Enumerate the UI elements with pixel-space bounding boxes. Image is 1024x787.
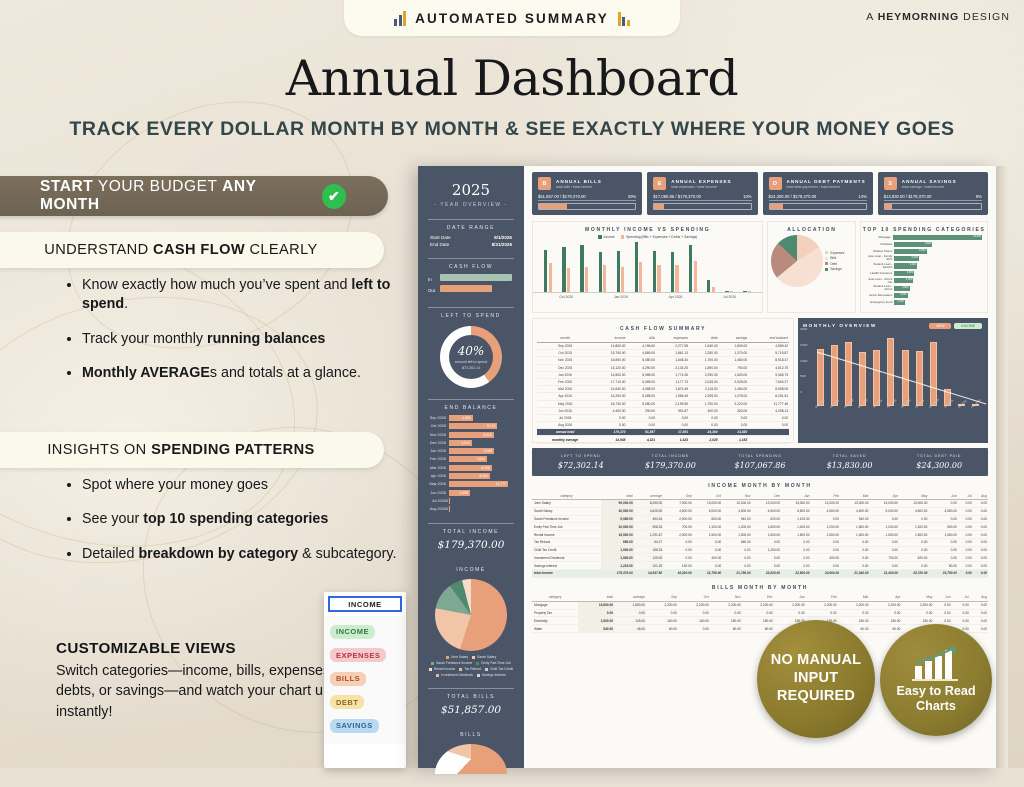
kpi-cards: BANNUAL BILLStotal bills / total income$… bbox=[532, 172, 988, 215]
table-cell: 1,890.00 bbox=[689, 364, 719, 371]
table-cell: 2,200.00 bbox=[806, 601, 838, 609]
table-cell: 2,200.00 bbox=[838, 601, 870, 609]
kpi-progress-bar bbox=[538, 203, 636, 210]
table-cell: 0.00 bbox=[973, 538, 988, 546]
table-cell: 400.00 bbox=[811, 554, 840, 562]
table-cell: 650.00 bbox=[722, 538, 751, 546]
table-cell: 2,200.00 bbox=[774, 601, 806, 609]
table-cell: 21,340.00 bbox=[840, 570, 869, 578]
kpi-title: ANNUAL SAVINGS bbox=[902, 179, 957, 184]
table-cell: 4,500.00 bbox=[899, 507, 928, 515]
table-row: May 202616,730.005,080.002,199.551,700.0… bbox=[537, 400, 789, 407]
table-cell: 1,500.00 bbox=[601, 554, 634, 562]
growth-chart-icon bbox=[910, 646, 962, 682]
legend-item: Investment Dividends bbox=[436, 673, 473, 677]
end-balance-header: END BALANCE bbox=[428, 399, 514, 411]
table-cell: 0.00 bbox=[952, 601, 970, 609]
table-cell: 2,250.00 bbox=[689, 350, 719, 357]
table-cell: Feb 2026 bbox=[537, 378, 593, 385]
customizable-body: Switch categories—income, bills, expense… bbox=[56, 661, 366, 722]
table-cell: 0.00 bbox=[678, 609, 710, 617]
dropdown-option[interactable]: INCOME bbox=[330, 625, 375, 639]
table-cell: monthly average bbox=[537, 436, 593, 443]
customizable-views-block: CUSTOMIZABLE VIEWS Switch categories—inc… bbox=[56, 640, 366, 722]
table-cell: 7,604.27 bbox=[748, 378, 789, 385]
table-cell: 7,000.00 bbox=[663, 500, 692, 508]
table-cell: 0.00 bbox=[899, 562, 928, 570]
bar-group bbox=[653, 251, 661, 292]
table-cell: 0.00 bbox=[811, 515, 840, 523]
table-row-total: total income179,370.0014,947.5016,300.00… bbox=[532, 570, 988, 578]
ribbon-cash-flow: UNDERSTAND CASH FLOW CLEARLY bbox=[0, 232, 384, 268]
table-cell: 1,861.13 bbox=[656, 350, 689, 357]
legend-item: Expenses bbox=[825, 251, 844, 255]
allocation-panel: ALLOCATION ExpensesBillsDebtSavings bbox=[767, 221, 856, 313]
table-cell: 60.00 bbox=[742, 625, 774, 633]
table-cell: 0.00 bbox=[899, 515, 928, 523]
badge-easy-label: Easy to Read Charts bbox=[880, 684, 992, 714]
table-cell: 15,500.00 bbox=[601, 531, 634, 539]
table-cell: 1,075.00 bbox=[719, 393, 749, 400]
kpi-subtitle: total bills / total income bbox=[556, 185, 602, 189]
table-cell: 290.00 bbox=[627, 407, 657, 414]
x-tick: Oct 2025 bbox=[559, 295, 573, 299]
monthly-overview-controls[interactable]: VIEW INCOME bbox=[929, 323, 982, 329]
table-cell: 0.00 bbox=[870, 609, 902, 617]
bar-group bbox=[599, 252, 607, 292]
table-cell: 150.00 bbox=[742, 617, 774, 625]
table-row: Oct 202515,790.004,865.001,861.132,250.0… bbox=[537, 350, 789, 357]
kpi-value: $17,080.86 / $179,370.0010% bbox=[653, 194, 751, 201]
allocation-legend: ExpensesBillsDebtSavings bbox=[825, 251, 844, 272]
table-cell: 0.00 bbox=[593, 414, 626, 421]
table-cell: 0.00 bbox=[958, 554, 973, 562]
top-spending-row: Childcare9,600 bbox=[861, 242, 987, 247]
table-cell: 1,800.00 bbox=[840, 523, 869, 531]
stat-item: TOTAL SAVED$13,830.00 bbox=[805, 454, 895, 470]
income-vs-spending-legend: Income Spending (Bills + Expenses + Debt… bbox=[533, 235, 762, 239]
table-cell: 1,650.00 bbox=[614, 601, 646, 609]
column-header: month bbox=[537, 334, 593, 343]
table-cell: 1,215.00 bbox=[601, 562, 634, 570]
table-row: Mar 202614,640.004,085.001,874.452,115.0… bbox=[537, 386, 789, 393]
column-header: Feb bbox=[811, 492, 840, 500]
table-cell: 1,200.00 bbox=[752, 546, 781, 554]
table-cell: 1,400.00 bbox=[781, 523, 810, 531]
page-title: Annual Dashboard bbox=[0, 50, 1024, 107]
table-cell: 2,200.00 bbox=[710, 601, 742, 609]
table-cell: 600.00 bbox=[693, 515, 722, 523]
table-cell: 0.00 bbox=[928, 500, 957, 508]
table-cell: 0.00 bbox=[722, 554, 751, 562]
table-cell: 1,500.00 bbox=[811, 531, 840, 539]
table-cell: 4,155.60 bbox=[627, 343, 657, 350]
table-cell: 0.00 bbox=[958, 562, 973, 570]
year-overview-label: - YEAR OVERVIEW - bbox=[418, 202, 524, 208]
table-cell: 150.00 bbox=[678, 617, 710, 625]
table-cell: 940.00 bbox=[722, 515, 751, 523]
column-header: average bbox=[634, 492, 663, 500]
dropdown-option[interactable]: EXPENSES bbox=[330, 648, 386, 662]
column-header: end balance bbox=[748, 334, 789, 343]
table-cell: 0.00 bbox=[752, 554, 781, 562]
column-header: Jul bbox=[958, 492, 973, 500]
table-cell: 22,500.00 bbox=[781, 570, 810, 578]
brand-credit: A HEYMORNING DESIGN bbox=[866, 11, 1010, 23]
table-cell: 9,065.73 bbox=[748, 371, 789, 378]
table-cell: 1,500.00 bbox=[693, 531, 722, 539]
column-header: Sep bbox=[663, 492, 692, 500]
table-cell: 22,620.00 bbox=[752, 570, 781, 578]
table-cell: 1,200.00 bbox=[899, 523, 928, 531]
dropdown-option[interactable]: BILLS bbox=[330, 672, 366, 686]
income-pie-header: INCOME bbox=[428, 562, 514, 573]
table-cell: 125.00 bbox=[614, 617, 646, 625]
table-cell: 4,559.42 bbox=[748, 343, 789, 350]
table-cell: John Salary bbox=[532, 500, 601, 508]
table-cell: 991.87 bbox=[656, 407, 689, 414]
table-cell: 3,625.00 bbox=[634, 507, 663, 515]
table-cell: Jun 2026 bbox=[537, 407, 593, 414]
table-cell: Sarah Salary bbox=[532, 507, 601, 515]
table-cell: 45.00 bbox=[614, 625, 646, 633]
income-selector[interactable]: INCOME bbox=[954, 323, 982, 329]
table-row: Property Tax0.000.000.000.000.000.000.00… bbox=[532, 609, 988, 617]
table-cell: 60.00 bbox=[646, 625, 678, 633]
table-cell: Rental Income bbox=[532, 531, 601, 539]
stat-item: TOTAL SPENDING$107,067.86 bbox=[715, 454, 805, 470]
table-cell: 16,800.00 bbox=[593, 357, 626, 364]
table-cell: 0.00 bbox=[693, 538, 722, 546]
top-spending-row: Emergency Fund2,400 bbox=[861, 300, 987, 305]
end-balance-row: Jul 20260 bbox=[424, 498, 518, 504]
kpi-card: BANNUAL BILLStotal bills / total income$… bbox=[532, 172, 642, 215]
table-row: Mortgage19,800.001,650.002,200.002,200.0… bbox=[532, 601, 988, 609]
table-cell: Jul 2026 bbox=[537, 414, 593, 421]
table-cell: 8,250.00 bbox=[634, 500, 663, 508]
table-cell: 1,520.00 bbox=[719, 371, 749, 378]
bar-group bbox=[562, 247, 570, 292]
table-cell: Water bbox=[532, 625, 578, 633]
table-cell: 0.00 bbox=[774, 609, 806, 617]
table-cell: 2,115.00 bbox=[689, 386, 719, 393]
table-cell: 0.00 bbox=[781, 562, 810, 570]
table-cell: 13,000.00 bbox=[899, 500, 928, 508]
table-cell: 19,800.00 bbox=[578, 601, 614, 609]
table-cell: 1,200.00 bbox=[722, 523, 751, 531]
stat-item: TOTAL INCOME$179,370.00 bbox=[626, 454, 716, 470]
income-pie-chart bbox=[435, 579, 507, 651]
table-row: Jan 202614,500.005,085.001,774.262,290.0… bbox=[537, 371, 789, 378]
table-cell: 0.00 bbox=[646, 609, 678, 617]
table-cell: 8,598.05 bbox=[748, 386, 789, 393]
ribbon-insights: INSIGHTS ON SPENDING PATTERNS bbox=[0, 432, 384, 468]
table-cell: 20,720.00 bbox=[899, 570, 928, 578]
top-spending-row: Health Insurance4,800 bbox=[861, 271, 987, 276]
total-income-value: $179,370.00 bbox=[418, 539, 524, 551]
table-cell: 2,000.00 bbox=[663, 515, 692, 523]
table-cell: 0.00 bbox=[627, 414, 657, 421]
table-row: Child Tax Credit1,900.00158.330.000.000.… bbox=[532, 546, 988, 554]
table-cell: 0.00 bbox=[899, 546, 928, 554]
table-cell: 0.00 bbox=[973, 531, 988, 539]
table-cell: 0.00 bbox=[811, 562, 840, 570]
table-cell: 1,500.00 bbox=[722, 531, 751, 539]
table-cell: 5,965.00 bbox=[601, 515, 634, 523]
column-header: Aug bbox=[973, 492, 988, 500]
table-cell: 1,800.00 bbox=[752, 523, 781, 531]
table-cell: 908.33 bbox=[634, 523, 663, 531]
table-cell: 60.00 bbox=[710, 625, 742, 633]
column-header: Nov bbox=[722, 492, 751, 500]
table-cell: 40,500.00 bbox=[601, 507, 634, 515]
table-cell: 2,200.00 bbox=[646, 601, 678, 609]
dropdown-option[interactable]: SAVINGS bbox=[330, 719, 379, 733]
overview-bar bbox=[831, 345, 838, 406]
table-cell: 0.00 bbox=[840, 554, 869, 562]
table-row: monthly average14,9484,3211,4232,0251,15… bbox=[537, 436, 789, 443]
table-cell: 21,790.00 bbox=[722, 570, 751, 578]
table-row: annual total179,37051,85717,08124,30013,… bbox=[537, 429, 789, 436]
table-cell: 24,300 bbox=[689, 429, 719, 436]
allocation-title: ALLOCATION bbox=[768, 222, 855, 235]
table-cell: 150.00 bbox=[646, 617, 678, 625]
table-cell: 130.00 bbox=[663, 562, 692, 570]
automated-summary-label: AUTOMATED SUMMARY bbox=[415, 11, 609, 26]
table-cell: Tax Refund bbox=[532, 538, 601, 546]
table-cell: 2,200.00 bbox=[901, 601, 933, 609]
table-row: Jul 20260.000.000.000.000.000.00 bbox=[537, 414, 789, 421]
table-cell: 620.00 bbox=[752, 515, 781, 523]
kpi-card: EANNUAL EXPENSEStotal expenses / total i… bbox=[647, 172, 757, 215]
legend-item: Sarah Freelance Income bbox=[431, 661, 472, 665]
table-cell: 0.00 bbox=[973, 570, 988, 578]
table-cell: 5,000.00 bbox=[869, 507, 898, 515]
kpi-badge-icon: E bbox=[653, 177, 666, 190]
table-cell: Oct 2025 bbox=[537, 350, 593, 357]
table-cell: 0.00 bbox=[811, 538, 840, 546]
end-date-row: End Date8/31/2026 bbox=[430, 242, 512, 247]
legend-item: Tax Refund bbox=[459, 667, 481, 671]
legend-item: Debt bbox=[825, 262, 844, 266]
column-header: debt bbox=[689, 334, 719, 343]
kpi-value: $51,857.00 / $179,370.0029% bbox=[538, 194, 636, 201]
table-cell: 1,480.00 bbox=[719, 357, 749, 364]
table-cell: May 2026 bbox=[537, 400, 593, 407]
table-cell: 0.00 bbox=[656, 422, 689, 429]
table-cell: 1,640.00 bbox=[689, 343, 719, 350]
column-header: income bbox=[593, 334, 626, 343]
start-date-row: Start Date9/1/2025 bbox=[430, 235, 512, 240]
table-row: Apr 202614,200.005,085.001,965.492,295.0… bbox=[537, 393, 789, 400]
table-cell: 1,500.00 bbox=[578, 617, 614, 625]
bills-mbm-title: BILLS MONTH BY MONTH bbox=[532, 585, 988, 591]
table-cell: 17,710.00 bbox=[593, 378, 626, 385]
table-cell: 0.00 bbox=[958, 507, 973, 515]
table-cell: 0.00 bbox=[722, 546, 751, 554]
table-cell: 13,000.00 bbox=[693, 500, 722, 508]
table-cell: 0.00 bbox=[719, 422, 749, 429]
monthly-overview-panel: MONTHLY OVERVIEW VIEW INCOME 20000150001… bbox=[798, 318, 988, 443]
table-cell: 1,965.49 bbox=[656, 393, 689, 400]
list-item: Track your monthly running balances bbox=[82, 330, 398, 349]
table-cell: 0.00 bbox=[840, 562, 869, 570]
end-balance-row: Aug 20260 bbox=[424, 506, 518, 512]
left-caption: amount left to spend bbox=[455, 360, 488, 364]
end-balance-row: Dec 20254,512 bbox=[424, 440, 518, 446]
table-cell: 320.00 bbox=[719, 407, 749, 414]
view-selector[interactable]: VIEW bbox=[929, 323, 952, 329]
table-row: John Salary99,000.008,250.007,000.0013,0… bbox=[532, 500, 988, 508]
table-cell: 0.00 bbox=[973, 515, 988, 523]
table-cell: 0.00 bbox=[973, 562, 988, 570]
table-cell: 0.00 bbox=[752, 562, 781, 570]
table-cell: 13,000.00 bbox=[869, 500, 898, 508]
column-header: Apr bbox=[869, 492, 898, 500]
kpi-title: ANNUAL BILLS bbox=[556, 179, 602, 184]
table-row: Jun 20264,400.00290.00991.87400.00320.00… bbox=[537, 407, 789, 414]
bar-group bbox=[725, 291, 733, 292]
table-cell: Electricity bbox=[532, 617, 578, 625]
table-cell: 2,025 bbox=[689, 436, 719, 443]
stat-value: $24,300.00 bbox=[894, 461, 984, 470]
kpi-badge-icon: D bbox=[769, 177, 782, 190]
table-cell: 0.00 bbox=[781, 546, 810, 554]
table-cell: 1,464.00 bbox=[719, 386, 749, 393]
income-vs-spending-xaxis: Oct 2025Jan 2026Apr 2026Jul 2026 bbox=[533, 293, 762, 299]
badge-no-manual-input: NO MANUAL INPUT REQUIRED bbox=[757, 620, 875, 738]
kpi-badge-icon: B bbox=[538, 177, 551, 190]
monthly-overview-bars bbox=[803, 334, 983, 406]
end-balance-row: Nov 20258,918 bbox=[424, 432, 518, 438]
table-cell: 0.00 bbox=[781, 538, 810, 546]
table-cell: 5,085.00 bbox=[627, 371, 657, 378]
automated-summary-pill: AUTOMATED SUMMARY bbox=[344, 0, 680, 36]
table-cell: total income bbox=[532, 570, 601, 578]
table-cell: 400.00 bbox=[689, 407, 719, 414]
left-amount: $72,302.14 bbox=[462, 366, 480, 370]
table-cell: 700.00 bbox=[663, 523, 692, 531]
table-cell: 0.00 bbox=[928, 554, 957, 562]
column-header: Aug bbox=[970, 594, 988, 602]
table-cell: 0.00 bbox=[973, 500, 988, 508]
column-header: total bbox=[601, 492, 634, 500]
table-cell: 4,500.00 bbox=[722, 507, 751, 515]
overview-bar bbox=[887, 338, 894, 406]
table-cell: 158.33 bbox=[634, 546, 663, 554]
column-header: Jun bbox=[928, 492, 957, 500]
stat-label: TOTAL SAVED bbox=[805, 454, 895, 458]
table-row: Emily Part-Time Job10,900.00908.33700.00… bbox=[532, 523, 988, 531]
table-row: Electricity1,500.00125.00150.00150.00150… bbox=[532, 617, 988, 625]
list-item: Monthly AVERAGEs and totals at a glance. bbox=[82, 364, 398, 383]
dropdown-options-list[interactable]: INCOMEEXPENSESBILLSDEBTSAVINGS bbox=[324, 616, 406, 744]
table-cell: 5,080.00 bbox=[627, 357, 657, 364]
table-cell: 2,277.98 bbox=[656, 343, 689, 350]
kpi-card: DANNUAL DEBT PAYMENTStotal debt payments… bbox=[763, 172, 873, 215]
table-cell: 0.00 bbox=[933, 609, 951, 617]
cash-flow-header: CASH FLOW bbox=[428, 258, 514, 270]
table-cell: 900.00 bbox=[928, 523, 957, 531]
y-tick: 20000 bbox=[800, 328, 807, 331]
left-to-spend-donut: 40% amount left to spend $72,302.14 bbox=[440, 326, 502, 388]
kpi-title: ANNUAL EXPENSES bbox=[671, 179, 731, 184]
end-balance-row: Jun 20264,098 bbox=[424, 490, 518, 496]
table-cell: 0.00 bbox=[973, 546, 988, 554]
table-cell: 4,098.13 bbox=[748, 407, 789, 414]
end-balance-row: Feb 20267,604 bbox=[424, 456, 518, 462]
column-header: average bbox=[614, 594, 646, 602]
table-row: Sep 202514,800.004,155.602,277.981,640.0… bbox=[537, 343, 789, 350]
top-spending-row: Auto Loan - Family SUV6,000 bbox=[861, 255, 987, 261]
summary-row: CASH FLOW SUMMARY monthincomebillsexpens… bbox=[532, 318, 988, 443]
kpi-progress-bar bbox=[884, 203, 982, 210]
table-cell: 540.00 bbox=[840, 515, 869, 523]
top-spending-panel: TOP 10 SPENDING CATEGORIES Mortgage24,60… bbox=[860, 221, 988, 313]
table-cell: Jan 2026 bbox=[537, 371, 593, 378]
table-cell: 0.00 bbox=[958, 500, 973, 508]
table-cell: 1,500.00 bbox=[899, 531, 928, 539]
table-cell: 9,715.87 bbox=[748, 350, 789, 357]
dropdown-option[interactable]: DEBT bbox=[330, 695, 364, 709]
income-month-by-month-table: categorytotalaverageSepOctNovDecJanFebMa… bbox=[532, 492, 988, 578]
table-cell: 2,000.00 bbox=[663, 531, 692, 539]
table-cell: 0.00 bbox=[614, 609, 646, 617]
sheet-edge-shadow bbox=[996, 166, 1008, 768]
list-item: Detailed breakdown by category & subcate… bbox=[82, 545, 398, 564]
table-cell: 2,295.00 bbox=[689, 393, 719, 400]
stat-strip: LEFT TO SPEND$72,302.14TOTAL INCOME$179,… bbox=[532, 448, 988, 476]
table-cell: 14,948 bbox=[593, 436, 626, 443]
table-cell: 14,800.00 bbox=[593, 343, 626, 350]
table-cell: 179,370.00 bbox=[601, 570, 634, 578]
table-cell: 0.00 bbox=[806, 609, 838, 617]
table-cell: Savings Interest bbox=[532, 562, 601, 570]
kpi-value: $13,830.00 / $179,370.008% bbox=[884, 194, 982, 201]
stat-label: TOTAL SPENDING bbox=[715, 454, 805, 458]
list-item: See your top 10 spending categories bbox=[82, 510, 398, 529]
column-header: Jun bbox=[933, 594, 951, 602]
stat-label: TOTAL DEBT PAID bbox=[894, 454, 984, 458]
top-spending-row: Mortgage24,600 bbox=[861, 235, 987, 240]
table-cell: Mortgage bbox=[532, 601, 578, 609]
table-cell: 150.00 bbox=[710, 617, 742, 625]
table-cell: 0.00 bbox=[869, 538, 898, 546]
table-cell: 0.00 bbox=[693, 562, 722, 570]
kpi-progress-bar bbox=[653, 203, 751, 210]
table-row: Sarah Salary40,500.003,625.004,500.005,0… bbox=[532, 507, 988, 515]
date-range-header: DATE RANGE bbox=[428, 219, 514, 231]
table-cell: 5,085.00 bbox=[627, 378, 657, 385]
table-cell: 0.00 bbox=[840, 546, 869, 554]
table-cell: 0.00 bbox=[958, 546, 973, 554]
income-mbm-title: INCOME MONTH BY MONTH bbox=[532, 483, 988, 489]
bar-group bbox=[671, 252, 679, 292]
category-dropdown-widget[interactable]: INCOME INCOMEEXPENSESBILLSDEBTSAVINGS bbox=[324, 592, 406, 768]
table-cell: 0.00 bbox=[742, 609, 774, 617]
table-cell: 0.00 bbox=[958, 515, 973, 523]
stat-value: $13,830.00 bbox=[805, 461, 895, 470]
list-item: Know exactly how much you’ve spent and l… bbox=[82, 276, 398, 315]
table-cell: 14,200.00 bbox=[593, 393, 626, 400]
table-cell: 0.00 bbox=[958, 531, 973, 539]
charts-row: MONTHLY INCOME VS SPENDING Income Spendi… bbox=[532, 221, 988, 313]
end-balance-row: Jan 20269,065 bbox=[424, 448, 518, 454]
table-cell: 2,199.55 bbox=[656, 400, 689, 407]
dropdown-selected-value[interactable]: INCOME bbox=[328, 596, 402, 612]
total-income-header: TOTAL INCOME bbox=[428, 523, 514, 535]
cash-flow-summary-title: CASH FLOW SUMMARY bbox=[537, 321, 789, 334]
